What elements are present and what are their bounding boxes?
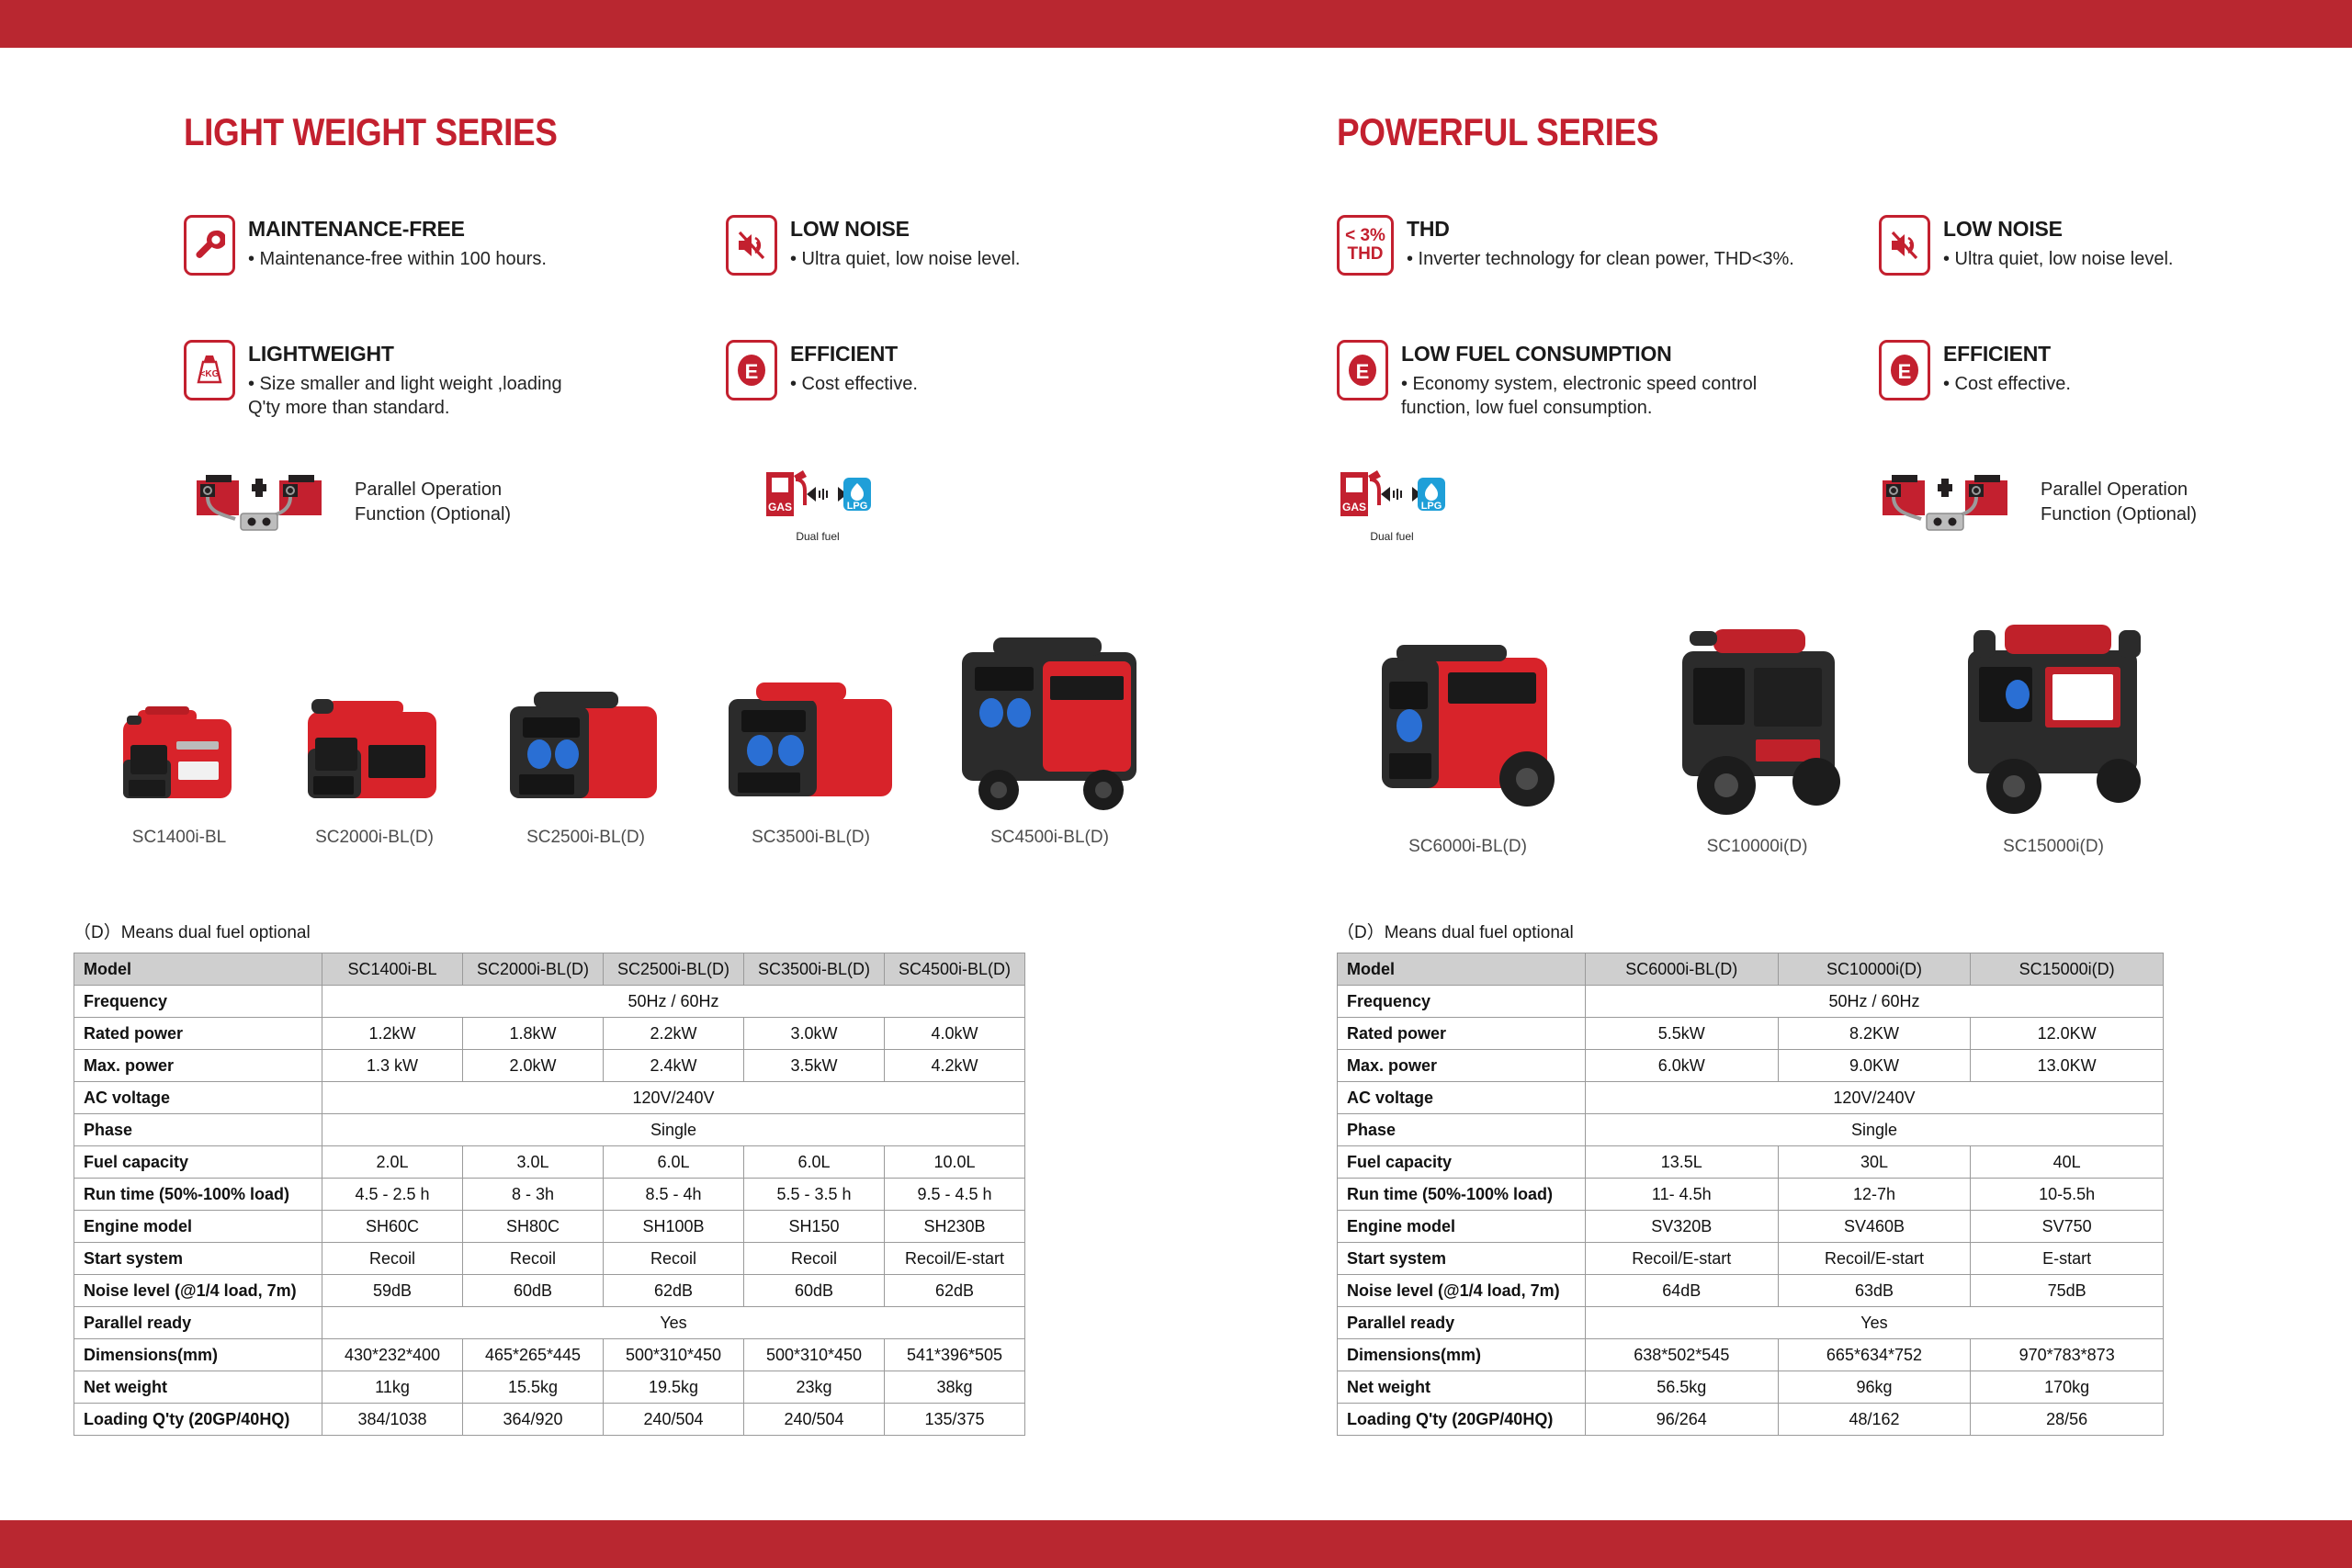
table-cell: 1.8kW xyxy=(463,1018,604,1050)
table-cell: 28/56 xyxy=(1971,1404,2164,1436)
feature-efficient: E EFFICIENT • Cost effective. xyxy=(726,340,918,421)
feature-title: EFFICIENT xyxy=(790,342,918,367)
table-cell: 23kg xyxy=(744,1371,885,1404)
product-label: SC4500i-BL(D) xyxy=(990,828,1109,848)
product-label: SC3500i-BL(D) xyxy=(752,828,870,848)
product-item: SC1400i-BL xyxy=(110,694,248,848)
feature-title: LOW NOISE xyxy=(1943,217,2173,242)
table-cell: 240/504 xyxy=(744,1404,885,1436)
mute-speaker-icon xyxy=(1879,215,1930,276)
feature-title: THD xyxy=(1407,217,1794,242)
product-item: SC6000i-BL(D) xyxy=(1369,625,1566,857)
table-cell: 6.0L xyxy=(744,1146,885,1179)
page-title-left: LIGHT WEIGHT SERIES xyxy=(184,110,1154,154)
table-row-label: Fuel capacity xyxy=(1338,1146,1586,1179)
dual-fuel-caption: Dual fuel xyxy=(1370,530,1413,543)
svg-text:E: E xyxy=(745,360,759,383)
table-cell: 665*634*752 xyxy=(1778,1339,1971,1371)
feature-desc: • Cost effective. xyxy=(790,372,918,396)
table-cell: 8.2KW xyxy=(1778,1018,1971,1050)
table-cell: 2.2kW xyxy=(604,1018,744,1050)
table-cell: 63dB xyxy=(1778,1275,1971,1307)
table-header-cell: SC2000i-BL(D) xyxy=(463,953,604,986)
table-header-cell: SC1400i-BL xyxy=(322,953,463,986)
table-row-label: Dimensions(mm) xyxy=(74,1339,322,1371)
generator-image-sc1400i xyxy=(110,694,248,813)
table-cell: Recoil xyxy=(322,1243,463,1275)
table-header-cell: SC3500i-BL(D) xyxy=(744,953,885,986)
product-item: SC15000i(D) xyxy=(1948,606,2159,857)
table-cell: 430*232*400 xyxy=(322,1339,463,1371)
feature-low-noise: LOW NOISE • Ultra quiet, low noise level… xyxy=(1879,215,2173,276)
table-row-label: Parallel ready xyxy=(74,1307,322,1339)
feature-desc: • Size smaller and light weight ,loading… xyxy=(248,372,562,421)
table-cell: 8.5 - 4h xyxy=(604,1179,744,1211)
table-row: Start systemRecoilRecoilRecoilRecoilReco… xyxy=(74,1243,1025,1275)
table-cell: 38kg xyxy=(885,1371,1025,1404)
table-cell: 2.0L xyxy=(322,1146,463,1179)
spec-table-right: ModelSC6000i-BL(D)SC10000i(D)SC15000i(D)… xyxy=(1337,953,2164,1436)
product-label: SC15000i(D) xyxy=(2003,837,2104,857)
table-row-label: Frequency xyxy=(74,986,322,1018)
table-cell: 64dB xyxy=(1585,1275,1778,1307)
table-cell: 62dB xyxy=(885,1275,1025,1307)
table-row-label: Net weight xyxy=(1338,1371,1586,1404)
feature-low-fuel-consumption: E LOW FUEL CONSUMPTION • Economy system,… xyxy=(1337,340,1879,421)
parallel-generators-icon xyxy=(184,466,340,540)
table-cell: 135/375 xyxy=(885,1404,1025,1436)
table-cell: 3.0L xyxy=(463,1146,604,1179)
svg-text:E: E xyxy=(1898,360,1912,383)
table-row: Loading Q'ty (20GP/40HQ)96/26448/16228/5… xyxy=(1338,1404,2164,1436)
table-row-label: Rated power xyxy=(74,1018,322,1050)
svg-text:LPG: LPG xyxy=(1421,501,1442,512)
table-row-label: Net weight xyxy=(74,1371,322,1404)
table-row: Engine modelSV320BSV460BSV750 xyxy=(1338,1211,2164,1243)
generator-image-sc2500i xyxy=(501,675,671,813)
table-row-label: Run time (50%-100% load) xyxy=(1338,1179,1586,1211)
table-cell: SV460B xyxy=(1778,1211,1971,1243)
table-row-label: Frequency xyxy=(1338,986,1586,1018)
table-cell: 48/162 xyxy=(1778,1404,1971,1436)
table-cell: 500*310*450 xyxy=(604,1339,744,1371)
table-row: Run time (50%-100% load)11- 4.5h12-7h10-… xyxy=(1338,1179,2164,1211)
table-cell: 5.5 - 3.5 h xyxy=(744,1179,885,1211)
feature-desc: • Maintenance-free within 100 hours. xyxy=(248,247,547,271)
table-header-model: Model xyxy=(1338,953,1586,986)
efficient-e-icon: E xyxy=(1879,340,1930,400)
generator-image-sc4500i xyxy=(951,625,1148,813)
table-row-label: Loading Q'ty (20GP/40HQ) xyxy=(74,1404,322,1436)
table-row-label: Run time (50%-100% load) xyxy=(74,1179,322,1211)
table-cell: 384/1038 xyxy=(322,1404,463,1436)
table-cell: Recoil/E-start xyxy=(1585,1243,1778,1275)
table-row: Max. power6.0kW9.0KW13.0KW xyxy=(1338,1050,2164,1082)
feature-desc: • Economy system, electronic speed contr… xyxy=(1401,372,1757,421)
mute-speaker-icon xyxy=(726,215,777,276)
table-row: Dimensions(mm)638*502*545665*634*752970*… xyxy=(1338,1339,2164,1371)
feature-low-noise: LOW NOISE • Ultra quiet, low noise level… xyxy=(726,215,1020,276)
table-cell: 62dB xyxy=(604,1275,744,1307)
table-row: Engine modelSH60CSH80CSH100BSH150SH230B xyxy=(74,1211,1025,1243)
product-item: SC2500i-BL(D) xyxy=(501,675,671,848)
table-header-cell: SC4500i-BL(D) xyxy=(885,953,1025,986)
table-row: Noise level (@1/4 load, 7m)59dB60dB62dB6… xyxy=(74,1275,1025,1307)
table-row-label: Phase xyxy=(74,1114,322,1146)
generator-image-sc10000i xyxy=(1658,611,1856,822)
table-row-label: Start system xyxy=(1338,1243,1586,1275)
table-cell: 1.3 kW xyxy=(322,1050,463,1082)
dual-fuel-block: GAS LPG Dual fuel xyxy=(763,463,873,543)
product-strip-right: SC6000i-BL(D) SC10000i(D) xyxy=(1369,606,2159,857)
table-row: Noise level (@1/4 load, 7m)64dB63dB75dB xyxy=(1338,1275,2164,1307)
product-label: SC6000i-BL(D) xyxy=(1408,837,1527,857)
table-cell: 3.0kW xyxy=(744,1018,885,1050)
table-cell: Recoil xyxy=(463,1243,604,1275)
efficient-e-icon: E xyxy=(1337,340,1388,400)
table-cell: 10-5.5h xyxy=(1971,1179,2164,1211)
table-row-label: Engine model xyxy=(74,1211,322,1243)
table-row-label: AC voltage xyxy=(74,1082,322,1114)
table-cell: 11kg xyxy=(322,1371,463,1404)
generator-image-sc2000i xyxy=(297,684,453,813)
svg-text:E: E xyxy=(1356,360,1370,383)
table-cell: 4.0kW xyxy=(885,1018,1025,1050)
table-cell: SH150 xyxy=(744,1211,885,1243)
table-cell: E-start xyxy=(1971,1243,2164,1275)
svg-text:GAS: GAS xyxy=(768,501,792,513)
table-cell-merged: Yes xyxy=(1585,1307,2163,1339)
table-row: Frequency50Hz / 60Hz xyxy=(74,986,1025,1018)
table-row-label: Noise level (@1/4 load, 7m) xyxy=(1338,1275,1586,1307)
table-cell: 8 - 3h xyxy=(463,1179,604,1211)
table-cell-merged: 120V/240V xyxy=(322,1082,1025,1114)
table-cell: 9.0KW xyxy=(1778,1050,1971,1082)
table-cell: 500*310*450 xyxy=(744,1339,885,1371)
product-label: SC10000i(D) xyxy=(1707,837,1808,857)
table-row: Run time (50%-100% load)4.5 - 2.5 h8 - 3… xyxy=(74,1179,1025,1211)
table-row: Parallel readyYes xyxy=(1338,1307,2164,1339)
table-cell-merged: 50Hz / 60Hz xyxy=(1585,986,2163,1018)
table-row: AC voltage120V/240V xyxy=(74,1082,1025,1114)
thd-icon: < 3% THD xyxy=(1337,215,1394,276)
catalog-page: LIGHT WEIGHT SERIES MAINTENANCE-FREE • M… xyxy=(0,0,2352,1568)
wrench-icon xyxy=(184,215,235,276)
table-header-cell: SC15000i(D) xyxy=(1971,953,2164,986)
table-cell: SV320B xyxy=(1585,1211,1778,1243)
generator-image-sc6000i xyxy=(1369,625,1566,822)
table-cell: 60dB xyxy=(463,1275,604,1307)
table-row-label: Rated power xyxy=(1338,1018,1586,1050)
table-cell: 75dB xyxy=(1971,1275,2164,1307)
table-cell: SH60C xyxy=(322,1211,463,1243)
table-row: Start systemRecoil/E-startRecoil/E-start… xyxy=(1338,1243,2164,1275)
table-header-row: ModelSC1400i-BLSC2000i-BL(D)SC2500i-BL(D… xyxy=(74,953,1025,986)
table-row: Rated power5.5kW8.2KW12.0KW xyxy=(1338,1018,2164,1050)
table-row: PhaseSingle xyxy=(74,1114,1025,1146)
table-cell: 1.2kW xyxy=(322,1018,463,1050)
svg-text:<KG: <KG xyxy=(200,369,220,379)
table-cell: 9.5 - 4.5 h xyxy=(885,1179,1025,1211)
table-row: Max. power1.3 kW2.0kW2.4kW3.5kW4.2kW xyxy=(74,1050,1025,1082)
table-header-cell: SC6000i-BL(D) xyxy=(1585,953,1778,986)
table-row: Parallel readyYes xyxy=(74,1307,1025,1339)
table-header-model: Model xyxy=(74,953,322,986)
efficient-e-icon: E xyxy=(726,340,777,400)
table-row-label: Parallel ready xyxy=(1338,1307,1586,1339)
table-cell: 12-7h xyxy=(1778,1179,1971,1211)
thd-badge-bottom: THD xyxy=(1347,245,1383,264)
dual-fuel-note-left: （D）Means dual fuel optional xyxy=(73,919,1121,943)
table-header-cell: SC2500i-BL(D) xyxy=(604,953,744,986)
table-cell: SH230B xyxy=(885,1211,1025,1243)
product-strip-left: SC1400i-BL SC2000i-BL(D) xyxy=(110,625,1148,848)
parallel-operation-text: Parallel Operation Function (Optional) xyxy=(355,478,511,527)
table-row-label: Start system xyxy=(74,1243,322,1275)
feature-title: LOW NOISE xyxy=(790,217,1020,242)
table-row-label: Phase xyxy=(1338,1114,1586,1146)
feature-maintenance-free: MAINTENANCE-FREE • Maintenance-free with… xyxy=(184,215,726,276)
dual-fuel-note-right: （D）Means dual fuel optional xyxy=(1337,919,2164,943)
table-row: Fuel capacity2.0L3.0L6.0L6.0L10.0L xyxy=(74,1146,1025,1179)
table-cell: 5.5kW xyxy=(1585,1018,1778,1050)
parallel-operation-text: Parallel Operation Function (Optional) xyxy=(2041,478,2197,527)
table-row-label: Loading Q'ty (20GP/40HQ) xyxy=(1338,1404,1586,1436)
extras-left: Parallel Operation Function (Optional) G… xyxy=(184,463,1286,543)
light-weight-series-section: LIGHT WEIGHT SERIES MAINTENANCE-FREE • M… xyxy=(184,110,1286,543)
table-cell: 56.5kg xyxy=(1585,1371,1778,1404)
table-row: AC voltage120V/240V xyxy=(1338,1082,2164,1114)
table-cell: 2.4kW xyxy=(604,1050,744,1082)
table-header-cell: SC10000i(D) xyxy=(1778,953,1971,986)
feature-desc: • Ultra quiet, low noise level. xyxy=(790,247,1020,271)
table-cell: 4.2kW xyxy=(885,1050,1025,1082)
table-row: Net weight11kg15.5kg19.5kg23kg38kg xyxy=(74,1371,1025,1404)
table-cell: 96kg xyxy=(1778,1371,1971,1404)
table-header-row: ModelSC6000i-BL(D)SC10000i(D)SC15000i(D) xyxy=(1338,953,2164,986)
extras-right: GAS LPG Dual fuel xyxy=(1337,463,2311,543)
feature-lightweight: <KG LIGHTWEIGHT • Size smaller and light… xyxy=(184,340,726,421)
table-cell: Recoil/E-start xyxy=(885,1243,1025,1275)
feature-title: LOW FUEL CONSUMPTION xyxy=(1401,342,1757,367)
dual-fuel-block: GAS LPG Dual fuel xyxy=(1337,463,1447,543)
table-cell: 40L xyxy=(1971,1146,2164,1179)
table-row: Rated power1.2kW1.8kW2.2kW3.0kW4.0kW xyxy=(74,1018,1025,1050)
table-cell: 465*265*445 xyxy=(463,1339,604,1371)
feature-title: LIGHTWEIGHT xyxy=(248,342,562,367)
feature-title: MAINTENANCE-FREE xyxy=(248,217,547,242)
spec-table-left: ModelSC1400i-BLSC2000i-BL(D)SC2500i-BL(D… xyxy=(73,953,1025,1436)
feature-grid-left: MAINTENANCE-FREE • Maintenance-free with… xyxy=(184,215,1286,421)
table-cell: 96/264 xyxy=(1585,1404,1778,1436)
feature-desc: • Ultra quiet, low noise level. xyxy=(1943,247,2173,271)
table-row-label: Dimensions(mm) xyxy=(1338,1339,1586,1371)
spec-table-left-wrapper: （D）Means dual fuel optional ModelSC1400i… xyxy=(73,919,1121,1436)
table-cell: 59dB xyxy=(322,1275,463,1307)
feature-thd: < 3% THD THD • Inverter technology for c… xyxy=(1337,215,1879,276)
table-cell: 364/920 xyxy=(463,1404,604,1436)
table-cell: 13.5L xyxy=(1585,1146,1778,1179)
product-item: SC4500i-BL(D) xyxy=(951,625,1148,848)
feature-desc: • Cost effective. xyxy=(1943,372,2071,396)
table-cell: 19.5kg xyxy=(604,1371,744,1404)
dual-fuel-caption: Dual fuel xyxy=(796,530,839,543)
feature-desc: • Inverter technology for clean power, T… xyxy=(1407,247,1794,271)
product-label: SC1400i-BL xyxy=(132,828,226,848)
table-cell-merged: Single xyxy=(322,1114,1025,1146)
product-item: SC3500i-BL(D) xyxy=(719,666,903,848)
table-cell-merged: 120V/240V xyxy=(1585,1082,2163,1114)
table-row-label: Noise level (@1/4 load, 7m) xyxy=(74,1275,322,1307)
table-cell: SH100B xyxy=(604,1211,744,1243)
product-item: SC10000i(D) xyxy=(1658,611,1856,857)
table-row: Dimensions(mm)430*232*400465*265*445500*… xyxy=(74,1339,1025,1371)
parallel-operation-block: Parallel Operation Function (Optional) xyxy=(184,463,726,543)
table-row: Net weight56.5kg96kg170kg xyxy=(1338,1371,2164,1404)
table-row: Loading Q'ty (20GP/40HQ)384/1038364/9202… xyxy=(74,1404,1025,1436)
table-row: Fuel capacity13.5L30L40L xyxy=(1338,1146,2164,1179)
top-red-band xyxy=(0,0,2352,48)
table-cell: 30L xyxy=(1778,1146,1971,1179)
table-row-label: Max. power xyxy=(1338,1050,1586,1082)
thd-badge-top: < 3% xyxy=(1345,227,1385,245)
dual-fuel-icon: GAS LPG xyxy=(1337,463,1447,528)
table-cell: Recoil/E-start xyxy=(1778,1243,1971,1275)
table-cell: 60dB xyxy=(744,1275,885,1307)
table-cell: Recoil xyxy=(744,1243,885,1275)
powerful-series-section: POWERFUL SERIES < 3% THD THD • Inverter … xyxy=(1337,110,2311,543)
table-cell: 6.0kW xyxy=(1585,1050,1778,1082)
table-cell-merged: Single xyxy=(1585,1114,2163,1146)
dual-fuel-icon: GAS LPG xyxy=(763,463,873,528)
table-cell: 6.0L xyxy=(604,1146,744,1179)
bottom-red-band xyxy=(0,1520,2352,1568)
table-cell: SH80C xyxy=(463,1211,604,1243)
table-row-label: AC voltage xyxy=(1338,1082,1586,1114)
table-cell-merged: 50Hz / 60Hz xyxy=(322,986,1025,1018)
table-cell: 3.5kW xyxy=(744,1050,885,1082)
table-cell: 15.5kg xyxy=(463,1371,604,1404)
table-row-label: Engine model xyxy=(1338,1211,1586,1243)
table-cell-merged: Yes xyxy=(322,1307,1025,1339)
page-title-right: POWERFUL SERIES xyxy=(1337,110,2194,154)
svg-text:LPG: LPG xyxy=(847,501,868,512)
table-cell: 2.0kW xyxy=(463,1050,604,1082)
product-label: SC2000i-BL(D) xyxy=(315,828,434,848)
table-cell: 4.5 - 2.5 h xyxy=(322,1179,463,1211)
parallel-operation-block: Parallel Operation Function (Optional) xyxy=(1870,463,2197,543)
feature-efficient: E EFFICIENT • Cost effective. xyxy=(1879,340,2071,421)
table-cell: 13.0KW xyxy=(1971,1050,2164,1082)
table-row: PhaseSingle xyxy=(1338,1114,2164,1146)
feature-grid-right: < 3% THD THD • Inverter technology for c… xyxy=(1337,215,2311,421)
table-cell: SV750 xyxy=(1971,1211,2164,1243)
table-cell: Recoil xyxy=(604,1243,744,1275)
table-cell: 541*396*505 xyxy=(885,1339,1025,1371)
table-cell: 12.0KW xyxy=(1971,1018,2164,1050)
svg-text:GAS: GAS xyxy=(1342,501,1366,513)
parallel-generators-icon xyxy=(1870,466,2026,540)
table-cell: 638*502*545 xyxy=(1585,1339,1778,1371)
table-cell: 11- 4.5h xyxy=(1585,1179,1778,1211)
table-row-label: Max. power xyxy=(74,1050,322,1082)
table-cell: 970*783*873 xyxy=(1971,1339,2164,1371)
feature-title: EFFICIENT xyxy=(1943,342,2071,367)
table-cell: 170kg xyxy=(1971,1371,2164,1404)
table-row-label: Fuel capacity xyxy=(74,1146,322,1179)
generator-image-sc15000i xyxy=(1948,606,2159,822)
table-cell: 240/504 xyxy=(604,1404,744,1436)
spec-table-right-wrapper: （D）Means dual fuel optional ModelSC6000i… xyxy=(1337,919,2164,1436)
lightweight-kg-icon: <KG xyxy=(184,340,235,400)
product-label: SC2500i-BL(D) xyxy=(526,828,645,848)
generator-image-sc3500i xyxy=(719,666,903,813)
table-cell: 10.0L xyxy=(885,1146,1025,1179)
table-row: Frequency50Hz / 60Hz xyxy=(1338,986,2164,1018)
product-item: SC2000i-BL(D) xyxy=(297,684,453,848)
